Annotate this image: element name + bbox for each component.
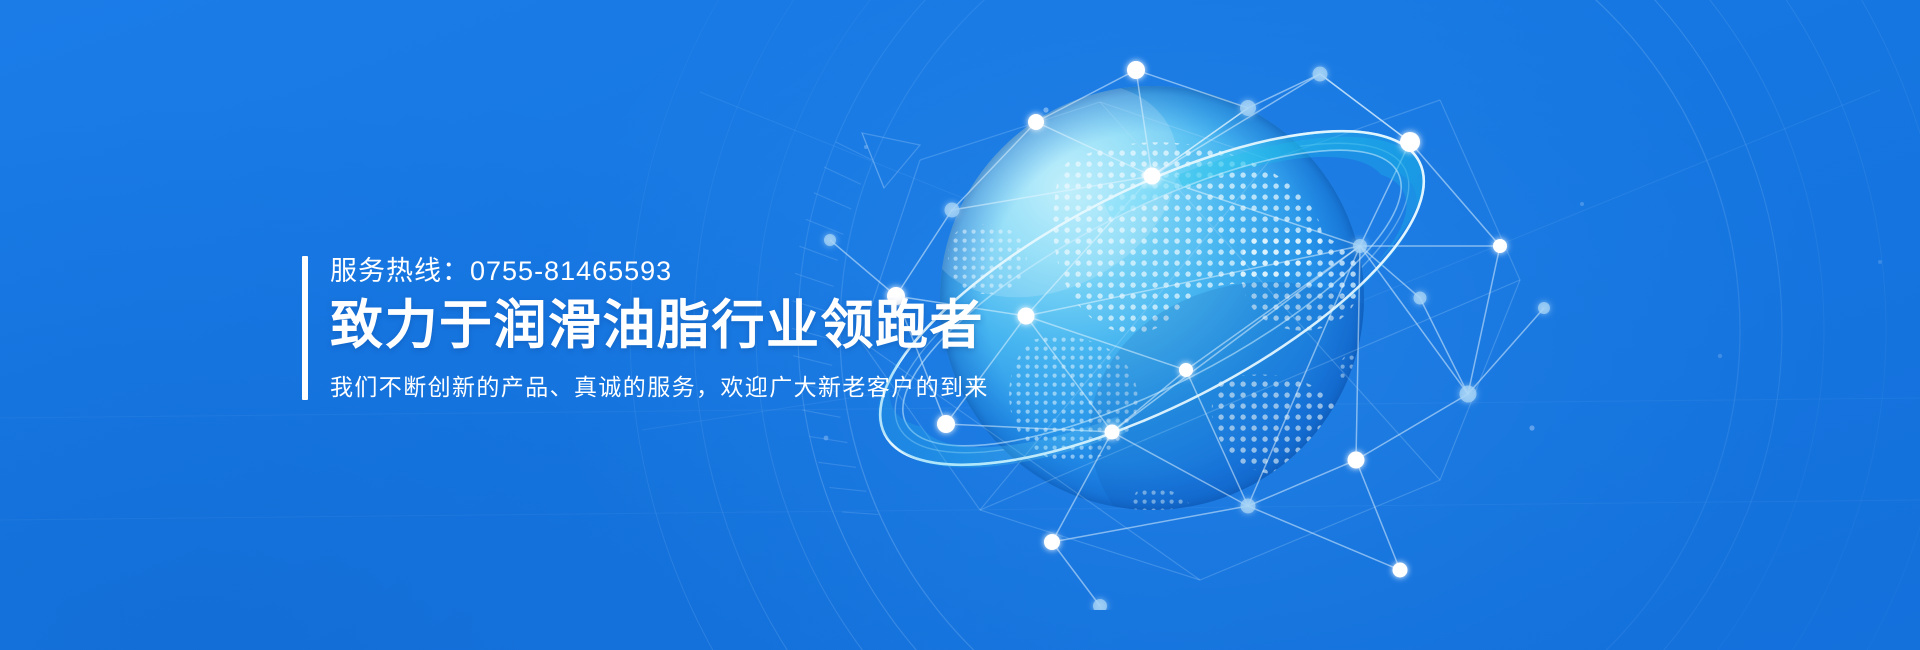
service-hotline: 服务热线：0755-81465593: [330, 252, 1062, 290]
page-title: 致力于润滑油脂行业领跑者: [330, 294, 1062, 358]
accent-bar: [302, 256, 308, 400]
hero-text-block: 服务热线：0755-81465593 致力于润滑油脂行业领跑者 我们不断创新的产…: [302, 252, 1062, 404]
hero-banner: 服务热线：0755-81465593 致力于润滑油脂行业领跑者 我们不断创新的产…: [0, 0, 1920, 650]
page-subtitle: 我们不断创新的产品、真诚的服务，欢迎广大新老客户的到来: [330, 370, 1062, 404]
